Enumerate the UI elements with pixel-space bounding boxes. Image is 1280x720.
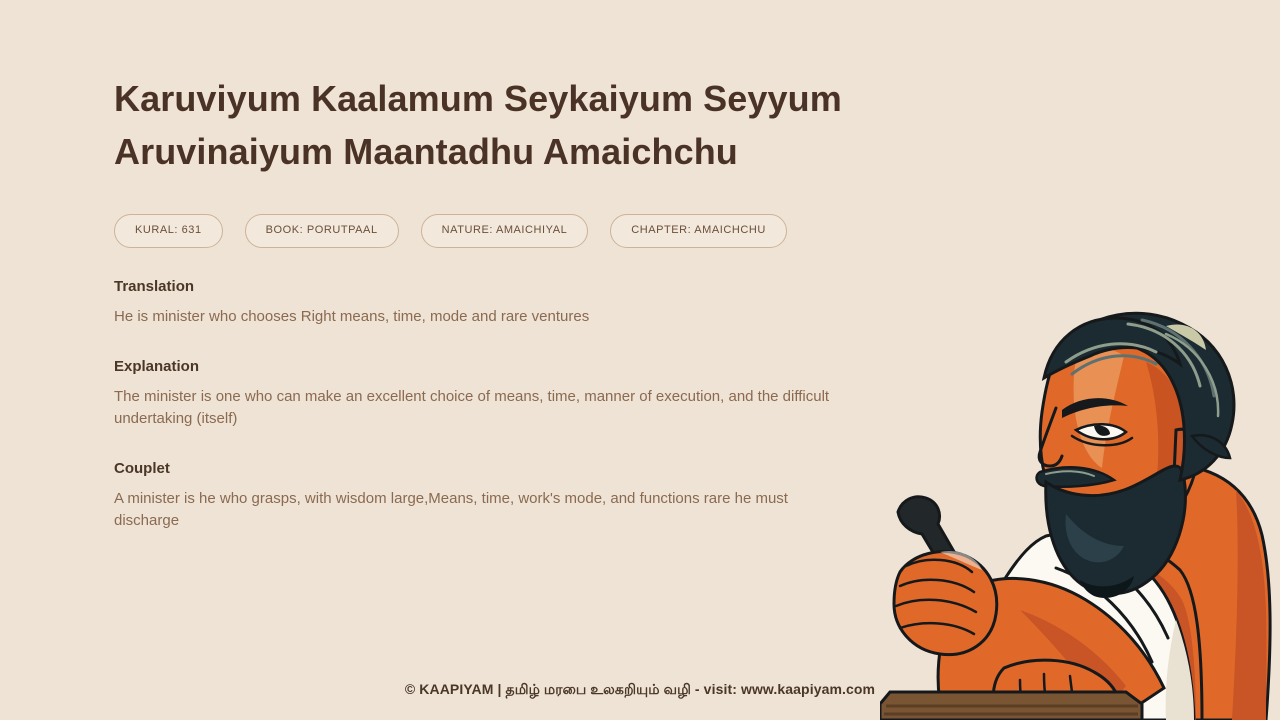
page-title: Karuviyum Kaalamum Seykaiyum Seyyum Aruv…	[114, 72, 844, 178]
face-shadow	[1146, 362, 1187, 524]
ear	[1174, 429, 1196, 477]
moustache-highlight	[1046, 471, 1094, 476]
chip-nature[interactable]: NATURE: AMAICHIYAL	[421, 214, 589, 248]
hair-strand-5	[1166, 334, 1218, 416]
chip-kural[interactable]: KURAL: 631	[114, 214, 223, 248]
content-area: Karuviyum Kaalamum Seykaiyum Seyyum Aruv…	[114, 72, 894, 532]
hair-side-lock	[1192, 435, 1230, 458]
nose	[1039, 408, 1062, 466]
chip-chapter[interactable]: CHAPTER: AMAICHCHU	[610, 214, 787, 248]
explanation-label: Explanation	[114, 358, 894, 375]
neck	[1090, 440, 1169, 542]
hair-strand-2	[1072, 356, 1156, 374]
finger-line-4	[900, 623, 974, 634]
hair-strand-4	[1142, 320, 1214, 396]
shawl-fold-1	[1068, 546, 1168, 638]
hair-strand-3	[1128, 324, 1200, 386]
couplet-label: Couplet	[114, 460, 894, 477]
translation-text: He is minister who chooses Right means, …	[114, 306, 836, 328]
beard-highlight	[1066, 514, 1124, 562]
couplet-text: A minister is he who grasps, with wisdom…	[114, 488, 854, 532]
shawl-shade	[1166, 620, 1194, 720]
beard-shade	[1080, 576, 1134, 598]
section-translation: Translation He is minister who chooses R…	[114, 278, 894, 328]
chip-book[interactable]: BOOK: PORUTPAAL	[245, 214, 399, 248]
finger-line-3	[896, 600, 976, 612]
eye	[1076, 424, 1126, 439]
hair-front	[1044, 318, 1180, 378]
hair-strand-1	[1066, 344, 1156, 362]
face-highlight	[1074, 350, 1124, 468]
metadata-chips: KURAL: 631 BOOK: PORUTPAAL NATURE: AMAIC…	[114, 214, 894, 248]
finger-line-1	[906, 560, 972, 572]
pupil	[1094, 425, 1110, 435]
explanation-text: The minister is one who can make an exce…	[114, 386, 836, 430]
thiruvalluvar-illustration	[880, 290, 1280, 720]
eyebrow	[1062, 398, 1128, 418]
hair-knot	[1166, 324, 1206, 350]
hair-bun	[1060, 313, 1234, 480]
eye-lower-lid	[1072, 436, 1132, 445]
kural-card: Karuviyum Kaalamum Seykaiyum Seyyum Aruv…	[0, 0, 1280, 720]
stylus	[898, 497, 990, 624]
left-hand	[894, 552, 997, 655]
shawl-fold-2	[1056, 568, 1152, 662]
section-couplet: Couplet A minister is he who grasps, wit…	[114, 460, 894, 532]
face	[1040, 335, 1200, 542]
section-explanation: Explanation The minister is one who can …	[114, 358, 894, 430]
moustache	[1037, 467, 1114, 486]
shawl-fold-3	[1044, 592, 1138, 686]
beard	[1046, 466, 1186, 594]
thumb-highlight	[940, 551, 982, 570]
footer-credit: © KAAPIYAM | தமிழ் மரபை உலகறியும் வழி - …	[0, 681, 1280, 700]
translation-label: Translation	[114, 278, 894, 295]
finger-line-2	[900, 580, 974, 592]
